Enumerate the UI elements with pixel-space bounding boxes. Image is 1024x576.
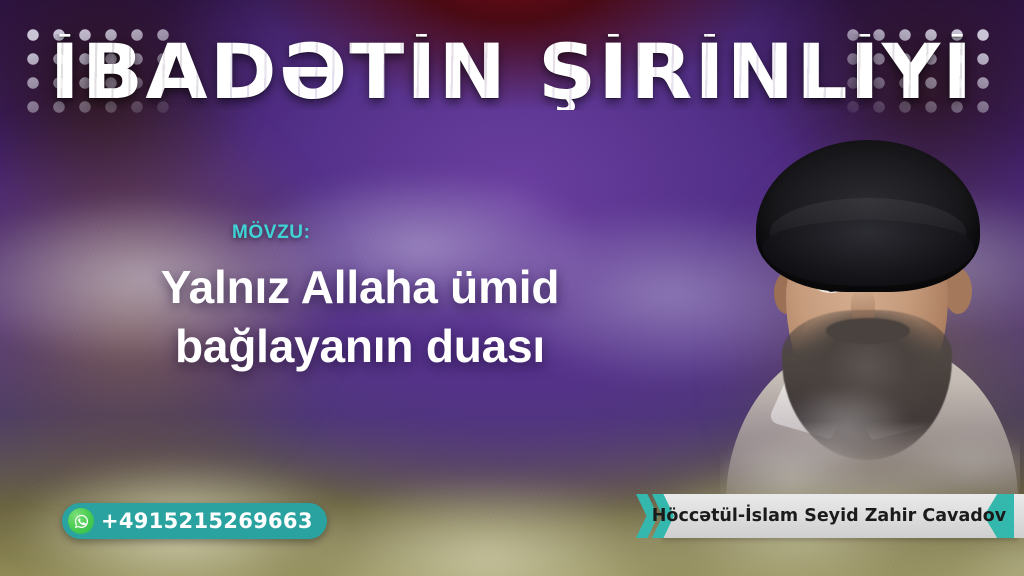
portrait-turban — [756, 140, 980, 292]
speaker-name: Höccətül-İslam Seyid Zahir Cavadov — [674, 494, 984, 538]
whatsapp-icon — [68, 508, 94, 534]
cleric-portrait — [720, 122, 1020, 542]
subject-title-line1: Yalnız Allaha ümid — [161, 261, 560, 313]
speaker-name-banner: Höccətül-İslam Seyid Zahir Cavadov — [636, 494, 1024, 538]
poster-canvas: İBADƏTİN ŞİRİNLİYİ MÖVZU: Yalnız Allaha … — [0, 0, 1024, 576]
subject-title-line2: bağlayanın duası — [60, 317, 660, 376]
whatsapp-phone-number: +4915215269663 — [101, 509, 313, 533]
portrait-moustache — [826, 318, 910, 344]
poster-headline: İBADƏTİN ŞİRİNLİYİ — [0, 34, 1024, 110]
subject-label: MÖVZU: — [232, 222, 311, 244]
subject-title: Yalnız Allaha ümid bağlayanın duası — [60, 258, 660, 376]
whatsapp-contact-badge[interactable]: +4915215269663 — [62, 503, 327, 539]
